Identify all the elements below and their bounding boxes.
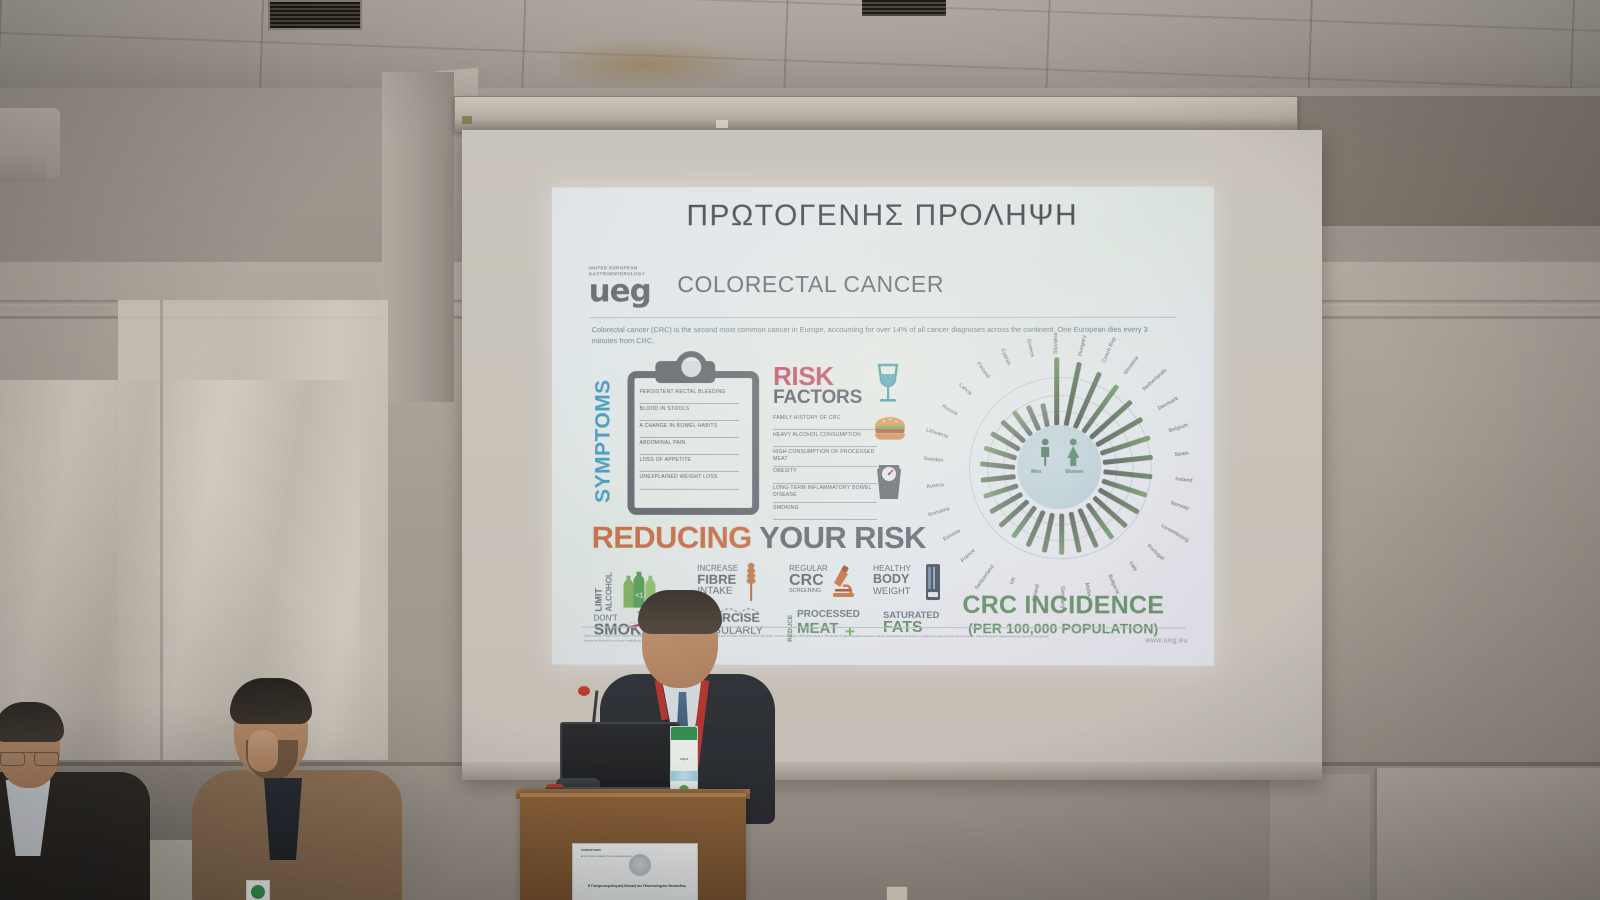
symptoms-list: PERSISTENT RECTAL BLEEDING BLOOD IN STOO…: [639, 387, 739, 489]
chart-tick-label: Estonia: [942, 528, 961, 543]
chart-caption-main: CRC INCIDENCE: [933, 591, 1194, 620]
ceiling-vent-icon: [268, 0, 362, 30]
list-item: PERSISTENT RECTAL BLEEDING: [639, 387, 739, 404]
audience-member-2: [192, 686, 402, 900]
ceiling-vent-secondary-icon: [862, 0, 946, 16]
podium-sign: ΠΑΝΕΠΙΣΤΗΜΙΟ ΑΡΙΣΤΟΤΕΛΕΙΟ ΠΑΝΕΠΙΣΤΗΜΙΟ Θ…: [572, 843, 698, 900]
list-item: HEAVY ALCOHOL CONSUMPTION: [773, 430, 877, 447]
chart-tick-label: Belgium: [1168, 422, 1189, 434]
ceiling-tile-grid: [0, 0, 1600, 92]
tip-main-label-a: PROCESSED: [797, 610, 871, 620]
wall-pillar-left: [382, 72, 454, 402]
list-item: UNEXPLAINED WEIGHT LOSS: [639, 472, 739, 489]
carton-cap: [671, 727, 697, 740]
ueg-wordmark: ueg: [589, 277, 667, 306]
chart-tick-label: Lithuania: [925, 427, 949, 440]
chart-tick-label: Portugal: [1146, 543, 1166, 562]
power-outlet-icon: [886, 886, 908, 900]
clipboard-ring-icon: [675, 351, 707, 383]
projected-slide: ΠΡΩΤΟΓΕΝΗΣ ΠΡΟΛΗΨΗ UNITED EUROPEAN GASTR…: [552, 186, 1214, 665]
slide-greek-title: ΠΡΩΤΟΓΕΝΗΣ ΠΡΟΛΗΨΗ: [552, 198, 1214, 233]
ceiling-water-stain: [560, 38, 750, 90]
wall-duct-lower: [0, 150, 46, 182]
chart-tick-label: Finland: [975, 361, 991, 379]
chart-tick-label: Denmark: [1157, 396, 1180, 412]
reducing-accent-word: REDUCING: [592, 520, 752, 555]
list-item: A CHANGE IN BOWEL HABITS: [639, 421, 739, 438]
water-carton-small: [246, 880, 270, 900]
list-item: HIGH CONSUMPTION OF PROCESSED MEAT: [773, 447, 877, 466]
list-item: LONG-TERM INFLAMMATORY BOWEL DISEASE: [773, 484, 877, 503]
chart-bar: [1059, 514, 1064, 555]
chart-tick-label: Ireland: [1175, 476, 1193, 484]
chart-tick-label: Russia: [941, 403, 959, 417]
chart-tick-label: Sweden: [923, 456, 943, 464]
list-item: LOSS OF APPETITE: [639, 455, 739, 472]
university-seal-icon: [629, 854, 651, 876]
conference-room-photo: ΠΡΩΤΟΓΕΝΗΣ ΠΡΟΛΗΨΗ UNITED EUROPEAN GASTR…: [0, 0, 1600, 900]
carton-graphic: [671, 771, 697, 781]
crc-incidence-radial-chart: Men Women SlovakiaHungaryCzech RepSloven…: [943, 351, 1176, 584]
podium-sign-heading: ΠΑΝΕΠΙΣΤΗΜΙΟ: [581, 849, 601, 852]
symptoms-label: SYMPTOMS: [592, 373, 618, 503]
podium-sign-title: Η Γαστρεντερολογική Κλινική του Πανεπιστ…: [579, 884, 695, 888]
chart-tick-label: Netherlands: [1142, 368, 1169, 393]
ueg-logo: UNITED EUROPEAN GASTROENTEROLOGY ueg: [589, 265, 667, 306]
burger-icon: [873, 415, 907, 446]
speaker-hair: [638, 590, 722, 634]
divider-top: [590, 317, 1176, 318]
list-item: OBESITY: [773, 467, 877, 484]
chart-tick-label: France: [960, 548, 977, 564]
legend-men: Men: [1031, 469, 1041, 475]
chart-tick-label: Spain: [1174, 450, 1189, 457]
wine-glass-icon: [873, 363, 903, 410]
gender-figures-icon: [1029, 435, 1091, 469]
list-item: ABDOMINAL PAIN: [639, 438, 739, 455]
chart-bar: [1054, 357, 1059, 425]
glasses-icon: [0, 752, 58, 763]
chart-tick-label: Luxembourg: [1160, 523, 1190, 544]
list-item: BLOOD IN STOOLS: [639, 404, 739, 421]
projector-screen-case: [454, 96, 1298, 132]
chart-tick-label: Slovenia: [1123, 355, 1141, 376]
risk-factors-list: FAMILY HISTORY OF CRC HEAVY ALCOHOL CONS…: [773, 413, 877, 520]
reducing-risk-heading: REDUCING YOUR RISK: [592, 520, 951, 556]
chart-tick-label: Latvia: [958, 382, 973, 397]
audience-2-hand: [248, 730, 278, 772]
chart-tick-label: Norway: [1170, 500, 1190, 512]
slide-intro-text: Colorectal cancer (CRC) is the second mo…: [592, 325, 1176, 347]
wall-panel-right: [1374, 768, 1600, 900]
audience-2-hair: [230, 678, 312, 724]
list-item: SMOKING: [773, 503, 877, 520]
chart-tick-label: Romania: [928, 506, 951, 519]
wall-panel-right-inner: [1270, 774, 1370, 900]
reducing-rest-words: YOUR RISK: [759, 520, 926, 555]
list-item: FAMILY HISTORY OF CRC: [773, 413, 877, 430]
chart-tick-label: Switzerland: [974, 564, 996, 591]
slide-heading: COLORECTAL CANCER: [677, 271, 944, 298]
microphone-icon: [578, 686, 590, 696]
chart-caption: CRC INCIDENCE (PER 100,000 POPULATION): [933, 591, 1194, 636]
microscope-icon: [829, 564, 857, 603]
chart-tick-label: Cyprus: [999, 348, 1012, 367]
chart-tick-label: Italy: [1128, 561, 1139, 573]
slide-url: www.ueg.eu: [1145, 637, 1187, 644]
tip-increase-fibre: INCREASE FIBRE INTAKE: [697, 564, 769, 598]
screen-case-tape: [716, 120, 728, 128]
audience-member-1: [0, 710, 150, 900]
chart-tick-label: Slovakia: [1053, 333, 1059, 354]
chart-tick-label: Austria: [926, 482, 944, 490]
tip-crc-screening: REGULAR CRC SCREENING: [789, 564, 863, 594]
carton-brand-text: AQUA: [673, 757, 695, 761]
screen-case-label: [462, 116, 472, 124]
chart-tick-label: UK: [1009, 576, 1018, 585]
legend-women: Women: [1065, 469, 1083, 475]
weight-scale-icon: [873, 463, 905, 506]
